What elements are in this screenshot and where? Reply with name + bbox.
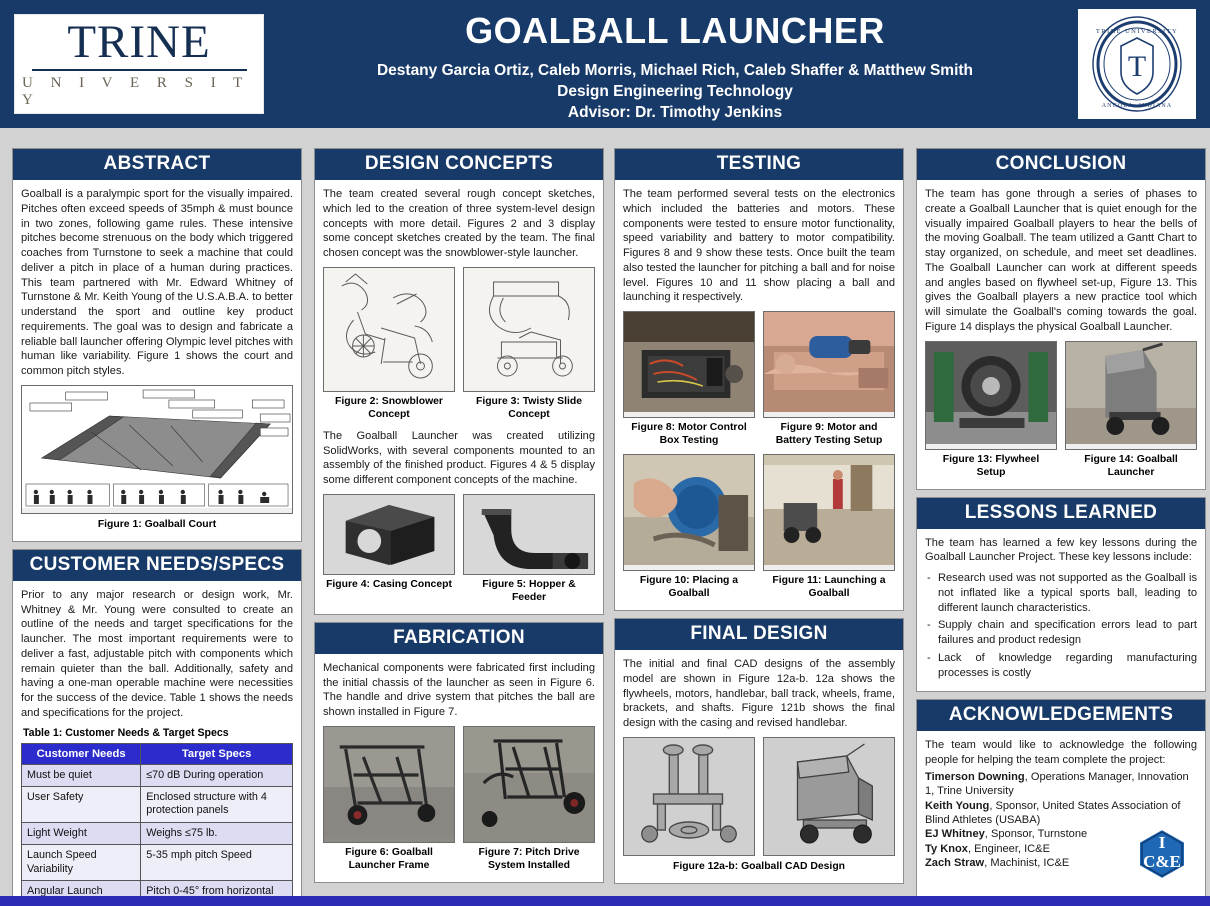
- figure-1-caption: Figure 1: Goalball Court: [21, 514, 293, 533]
- figure-7-cell: Figure 7: Pitch Drive System Installed: [463, 726, 595, 874]
- figure-12b-cell: [763, 737, 895, 856]
- cell-need: Must be quiet: [22, 764, 141, 786]
- lessons-list: Research used was not supported as the G…: [925, 571, 1197, 680]
- pitch-drive-system-photo: [464, 727, 594, 837]
- person-name: Timerson Downing: [925, 771, 1025, 783]
- conclusion-paragraph: The team has gone through a series of ph…: [925, 187, 1197, 335]
- list-item: Supply chain and specification errors le…: [925, 618, 1197, 648]
- svg-text:I: I: [1159, 833, 1166, 852]
- figure-2-cell: Figure 2: Snowblower Concept: [323, 267, 455, 423]
- table-row: Must be quiet ≤70 dB During operation: [22, 764, 293, 786]
- cell-spec: Enclosed structure with 4 protection pan…: [141, 786, 293, 822]
- section-body-final-design: The initial and final CAD designs of the…: [615, 650, 903, 883]
- cad-initial-design: [624, 738, 754, 850]
- figure-1-image: [21, 385, 293, 514]
- section-final-design: FINAL DESIGN The initial and final CAD d…: [614, 618, 904, 884]
- figure-row-12: [623, 737, 895, 856]
- figure-10-caption: Figure 10: Placing a Goalball: [623, 571, 755, 602]
- figure-8-image: [623, 311, 755, 418]
- figure-14-image: [1065, 341, 1197, 450]
- figure-7-image: [463, 726, 595, 843]
- snowblower-concept-sketch: [324, 268, 454, 386]
- section-body-conclusion: The team has gone through a series of ph…: [917, 180, 1205, 489]
- figure-2-caption: Figure 2: Snowblower Concept: [323, 392, 455, 423]
- table-header-row: Customer Needs Target Specs: [22, 743, 293, 764]
- launcher-frame-photo: [324, 727, 454, 837]
- figure-12a-cell: [623, 737, 755, 856]
- section-fabrication: FABRICATION Mechanical components were f…: [314, 622, 604, 883]
- section-abstract: ABSTRACT Goalball is a paralympic sport …: [12, 148, 302, 542]
- page-title: GOALBALL LAUNCHER: [270, 10, 1080, 51]
- section-body-design-concepts: The team created several rough concept s…: [315, 180, 603, 614]
- figure-2-image: [323, 267, 455, 392]
- figure-6-image: [323, 726, 455, 843]
- twisty-slide-concept-sketch: [464, 268, 594, 386]
- goalball-launcher-photo: [1066, 342, 1196, 444]
- section-header-acknowledgements: ACKNOWLEDGEMENTS: [917, 700, 1205, 731]
- section-body-abstract: Goalball is a paralympic sport for the v…: [13, 180, 301, 541]
- bottom-accent-strip: [0, 896, 1210, 906]
- table-row: User Safety Enclosed structure with 4 pr…: [22, 786, 293, 822]
- figure-5-caption: Figure 5: Hopper & Feeder: [463, 575, 595, 606]
- figure-4-cell: Figure 4: Casing Concept: [323, 494, 455, 606]
- figure-row-2-3: Figure 2: Snowblower Concept: [323, 267, 595, 423]
- section-design-concepts: DESIGN CONCEPTS The team created several…: [314, 148, 604, 615]
- section-body-customer-needs: Prior to any major research or design wo…: [13, 581, 301, 906]
- acknowledgement-person: Timerson Downing, Operations Manager, In…: [925, 770, 1197, 799]
- figure-row-10-11: Figure 10: Placing a Goalball: [623, 454, 895, 602]
- table-1-title: Table 1: Customer Needs & Target Specs: [23, 727, 293, 739]
- column-3: TESTING The team performed several tests…: [614, 148, 904, 891]
- author-list: Destany Garcia Ortiz, Caleb Morris, Mich…: [270, 61, 1080, 82]
- department-label: Design Engineering Technology: [270, 82, 1080, 103]
- launching-goalball-photo: [764, 455, 894, 565]
- figure-5-cell: Figure 5: Hopper & Feeder: [463, 494, 595, 606]
- figure-4-caption: Figure 4: Casing Concept: [323, 575, 455, 593]
- section-body-fabrication: Mechanical components were fabricated fi…: [315, 654, 603, 882]
- figure-12-caption: Figure 12a-b: Goalball CAD Design: [623, 856, 895, 875]
- cad-final-design: [764, 738, 894, 850]
- trine-university-logo: TRINE U N I V E R S I T Y: [14, 14, 264, 114]
- list-item: Research used was not supported as the G…: [925, 571, 1197, 615]
- cell-need: User Safety: [22, 786, 141, 822]
- figure-12b-image: [763, 737, 895, 856]
- person-name: Keith Young: [925, 800, 989, 812]
- fabrication-paragraph: Mechanical components were fabricated fi…: [323, 661, 595, 720]
- figure-9-cell: Figure 9: Motor and Battery Testing Setu…: [763, 311, 895, 449]
- table-row: Light Weight Weighs ≤75 lb.: [22, 822, 293, 844]
- ice-logo: I C&E: [1135, 827, 1189, 881]
- section-header-abstract: ABSTRACT: [13, 149, 301, 180]
- flywheel-setup-photo: [926, 342, 1056, 444]
- cell-spec: ≤70 dB During operation: [141, 764, 293, 786]
- ice-hexagon-icon: I C&E: [1135, 827, 1189, 881]
- poster-banner: TRINE U N I V E R S I T Y GOALBALL LAUNC…: [0, 0, 1210, 128]
- section-header-fabrication: FABRICATION: [315, 623, 603, 654]
- cell-spec: 5-35 mph pitch Speed: [141, 845, 293, 881]
- acknowledgements-intro: The team would like to acknowledge the f…: [925, 738, 1197, 768]
- figure-row-6-7: Figure 6: Goalball Launcher Frame: [323, 726, 595, 874]
- person-name: EJ Whitney: [925, 828, 985, 840]
- section-conclusion: CONCLUSION The team has gone through a s…: [916, 148, 1206, 490]
- column-4: CONCLUSION The team has gone through a s…: [916, 148, 1206, 906]
- svg-text:TRINE UNIVERSITY: TRINE UNIVERSITY: [1096, 28, 1178, 35]
- casing-concept-render: [324, 495, 454, 569]
- abstract-paragraph: Goalball is a paralympic sport for the v…: [21, 187, 293, 379]
- testing-paragraph: The team performed several tests on the …: [623, 187, 895, 305]
- motor-battery-testing-photo: [764, 312, 894, 412]
- motor-control-box-photo: [624, 312, 754, 412]
- figure-6-caption: Figure 6: Goalball Launcher Frame: [323, 843, 455, 874]
- banner-text-block: GOALBALL LAUNCHER Destany Garcia Ortiz, …: [270, 6, 1080, 124]
- person-name: Ty Knox: [925, 843, 968, 855]
- section-header-conclusion: CONCLUSION: [917, 149, 1205, 180]
- person-name: Zach Straw: [925, 857, 984, 869]
- svg-text:ANGOLA, INDIANA: ANGOLA, INDIANA: [1102, 103, 1173, 109]
- trine-logo-rule: [32, 69, 247, 71]
- figure-11-caption: Figure 11: Launching a Goalball: [763, 571, 895, 602]
- figure-9-image: [763, 311, 895, 418]
- hopper-feeder-render: [464, 495, 594, 569]
- section-testing: TESTING The team performed several tests…: [614, 148, 904, 611]
- person-detail: , Engineer, IC&E: [968, 843, 1050, 855]
- figure-11-image: [763, 454, 895, 571]
- section-header-design-concepts: DESIGN CONCEPTS: [315, 149, 603, 180]
- placing-goalball-photo: [624, 455, 754, 565]
- figure-11-cell: Figure 11: Launching a Goalball: [763, 454, 895, 602]
- customer-needs-table: Customer Needs Target Specs Must be quie…: [21, 743, 293, 906]
- section-header-final-design: FINAL DESIGN: [615, 619, 903, 650]
- seal-icon: T TRINE UNIVERSITY ANGOLA, INDIANA: [1085, 14, 1189, 114]
- column-1: ABSTRACT Goalball is a paralympic sport …: [12, 148, 302, 906]
- person-detail: , Machinist, IC&E: [984, 857, 1069, 869]
- figure-9-caption: Figure 9: Motor and Battery Testing Setu…: [763, 418, 895, 449]
- figure-13-caption: Figure 13: Flywheel Setup: [925, 450, 1057, 481]
- customer-needs-paragraph: Prior to any major research or design wo…: [21, 588, 293, 721]
- column-header-target-specs: Target Specs: [141, 743, 293, 764]
- section-header-customer-needs: CUSTOMER NEEDS/SPECS: [13, 550, 301, 581]
- figure-row-8-9: Figure 8: Motor Control Box Testing: [623, 311, 895, 449]
- list-item: Lack of knowledge regarding manufacturin…: [925, 651, 1197, 681]
- figure-10-cell: Figure 10: Placing a Goalball: [623, 454, 755, 602]
- figure-14-caption: Figure 14: Goalball Launcher: [1065, 450, 1197, 481]
- column-2: DESIGN CONCEPTS The team created several…: [314, 148, 604, 890]
- design-concepts-paragraph-1: The team created several rough concept s…: [323, 187, 595, 261]
- final-design-paragraph: The initial and final CAD designs of the…: [623, 657, 895, 731]
- section-acknowledgements: ACKNOWLEDGEMENTS The team would like to …: [916, 699, 1206, 906]
- figure-8-caption: Figure 8: Motor Control Box Testing: [623, 418, 755, 449]
- goalball-court-diagram: [22, 386, 292, 508]
- figure-14-cell: Figure 14: Goalball Launcher: [1065, 341, 1197, 481]
- trine-logo-wordmark: TRINE: [67, 19, 210, 66]
- section-header-lessons-learned: LESSONS LEARNED: [917, 498, 1205, 529]
- figure-8-cell: Figure 8: Motor Control Box Testing: [623, 311, 755, 449]
- figure-13-image: [925, 341, 1057, 450]
- ice-logo-text: C&E: [1143, 852, 1181, 871]
- figure-3-caption: Figure 3: Twisty Slide Concept: [463, 392, 595, 423]
- figure-6-cell: Figure 6: Goalball Launcher Frame: [323, 726, 455, 874]
- figure-10-image: [623, 454, 755, 571]
- section-header-testing: TESTING: [615, 149, 903, 180]
- poster-root: TRINE U N I V E R S I T Y GOALBALL LAUNC…: [0, 0, 1210, 906]
- figure-7-caption: Figure 7: Pitch Drive System Installed: [463, 843, 595, 874]
- acknowledgement-person: Keith Young, Sponsor, United States Asso…: [925, 799, 1197, 828]
- section-customer-needs: CUSTOMER NEEDS/SPECS Prior to any major …: [12, 549, 302, 906]
- figure-13-cell: Figure 13: Flywheel Setup: [925, 341, 1057, 481]
- trine-logo-subtitle: U N I V E R S I T Y: [15, 75, 263, 109]
- advisor-label: Advisor: Dr. Timothy Jenkins: [270, 103, 1080, 124]
- figure-row-4-5: Figure 4: Casing Concept: [323, 494, 595, 606]
- figure-12a-image: [623, 737, 755, 856]
- person-detail: , Sponsor, Turnstone: [985, 828, 1087, 840]
- figure-4-image: [323, 494, 455, 575]
- cell-need: Light Weight: [22, 822, 141, 844]
- cell-need: Launch Speed Variability: [22, 845, 141, 881]
- section-lessons-learned: LESSONS LEARNED The team has learned a f…: [916, 497, 1206, 693]
- lessons-intro: The team has learned a few key lessons d…: [925, 536, 1197, 566]
- figure-5-image: [463, 494, 595, 575]
- design-concepts-paragraph-2: The Goalball Launcher was created utiliz…: [323, 429, 595, 488]
- cell-spec: Weighs ≤75 lb.: [141, 822, 293, 844]
- svg-text:T: T: [1128, 50, 1146, 83]
- trine-seal-logo: T TRINE UNIVERSITY ANGOLA, INDIANA: [1078, 9, 1196, 119]
- section-body-testing: The team performed several tests on the …: [615, 180, 903, 610]
- section-body-acknowledgements: The team would like to acknowledge the f…: [917, 731, 1205, 906]
- table-row: Launch Speed Variability 5-35 mph pitch …: [22, 845, 293, 881]
- section-body-lessons-learned: The team has learned a few key lessons d…: [917, 529, 1205, 692]
- figure-3-image: [463, 267, 595, 392]
- figure-row-13-14: Figure 13: Flywheel Setup: [925, 341, 1197, 481]
- column-header-customer-needs: Customer Needs: [22, 743, 141, 764]
- figure-3-cell: Figure 3: Twisty Slide Concept: [463, 267, 595, 423]
